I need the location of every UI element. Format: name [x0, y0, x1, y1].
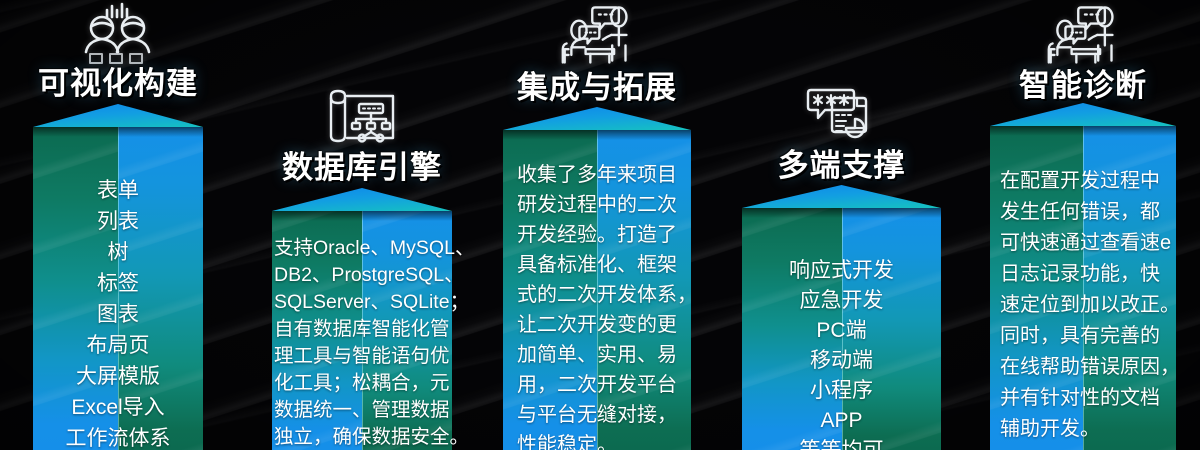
- people-discussion-icon: [559, 0, 635, 66]
- pillar-face-right: [597, 130, 691, 450]
- column-visual-build[interactable]: 可视化构建 表单 列表 树 标签 图表 布局页 大屏模版 Excel导入 工作流…: [33, 0, 203, 450]
- pillar-face-right: [118, 127, 203, 450]
- pillar-body: 响应式开发 应急开发 PC端 移动端 小程序 APP 等等均可: [742, 208, 941, 450]
- pillar-face-right: [362, 211, 452, 450]
- column-title: 可视化构建: [38, 58, 198, 103]
- column-title: 多端支撑: [778, 140, 906, 185]
- pillar-body: 支持Oracle、MySQL、 DB2、ProstgreSQL、 SQLServ…: [272, 211, 452, 450]
- database-network-icon: [324, 84, 400, 150]
- report-bubble-icon: [804, 82, 880, 148]
- two-people-chart-icon: [80, 0, 156, 66]
- pillar-face-left: [503, 130, 597, 450]
- pillar-body: 在配置开发过程中 发生任何错误，都 可快速通过查看速e 日志记录功能，快 速定位…: [990, 126, 1176, 450]
- infographic-stage: 可视化构建 表单 列表 树 标签 图表 布局页 大屏模版 Excel导入 工作流…: [0, 0, 1200, 450]
- column-database-engine[interactable]: 数据库引擎 支持Oracle、MySQL、 DB2、ProstgreSQL、 S…: [272, 0, 452, 450]
- column-title: 集成与拓展: [517, 62, 677, 107]
- pillar-face-left: [272, 211, 362, 450]
- pillar-face-left: [990, 126, 1083, 450]
- pillar-body: 收集了多年来项目 研发过程中的二次 开发经验。打造了 具备标准化、框架 式的二次…: [503, 130, 691, 450]
- column-title: 智能诊断: [1019, 60, 1147, 105]
- pillar-face-right: [842, 208, 942, 450]
- pillar-body: 表单 列表 树 标签 图表 布局页 大屏模版 Excel导入 工作流体系: [33, 127, 203, 450]
- column-smart-diagnosis[interactable]: 智能诊断 在配置开发过程中 发生任何错误，都 可快速通过查看速e 日志记录功能，…: [990, 0, 1176, 450]
- people-discussion-icon: [1045, 0, 1121, 66]
- pillar-face-left: [33, 127, 118, 450]
- column-title: 数据库引擎: [282, 142, 442, 187]
- pillar-face-left: [742, 208, 842, 450]
- pillar-face-right: [1083, 126, 1176, 450]
- column-integration-extension[interactable]: 集成与拓展 收集了多年来项目 研发过程中的二次 开发经验。打造了 具备标准化、框…: [503, 0, 691, 450]
- column-multi-terminal-support[interactable]: 多端支撑 响应式开发 应急开发 PC端 移动端 小程序 APP 等等均可: [742, 0, 941, 450]
